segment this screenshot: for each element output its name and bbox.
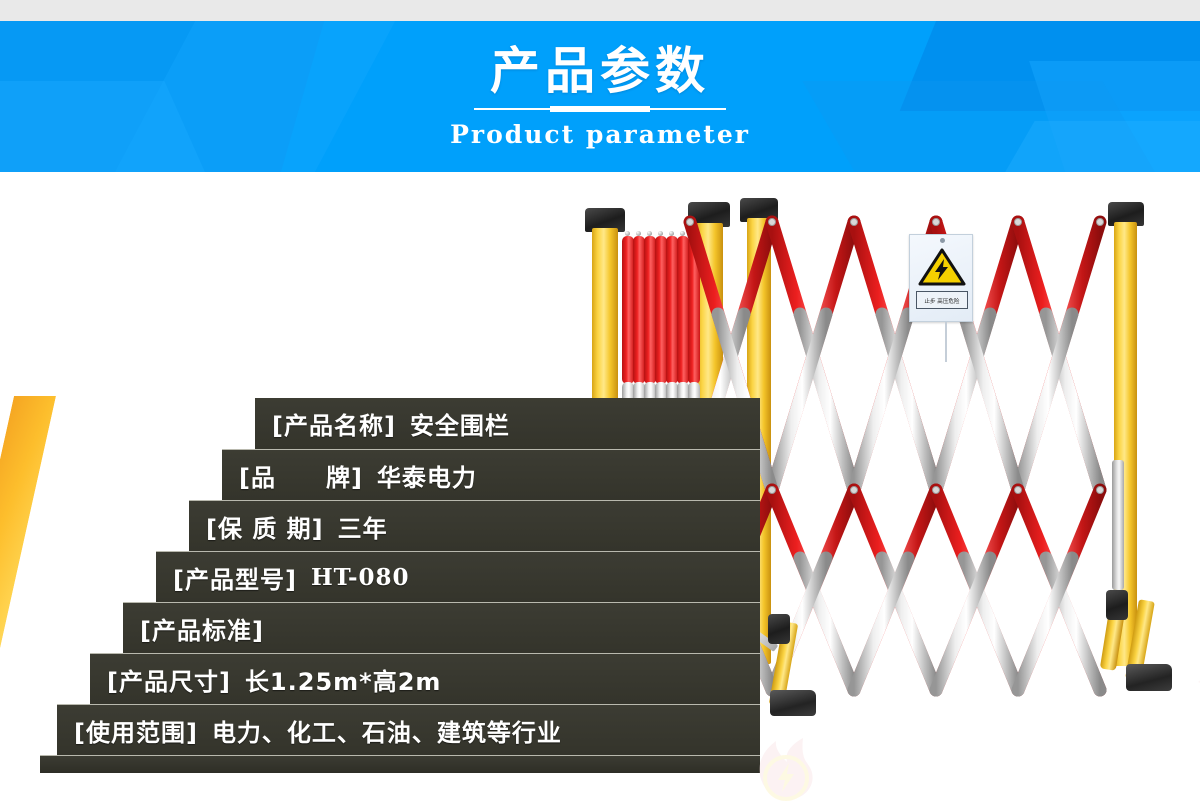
param-value: 华泰电力 [377, 458, 477, 493]
param-key: [产品尺寸] [107, 662, 231, 697]
param-key: [保 质 期] [206, 509, 324, 544]
sign-mount-hole [940, 238, 945, 243]
sign-text-box: 止步 高压危险 [916, 291, 968, 309]
title-underline [474, 105, 726, 113]
sign-stem [945, 322, 947, 362]
table-row: [产品型号] HT-080 [156, 551, 760, 602]
param-value: 长1.25m*高2m [245, 662, 441, 697]
param-value: HT-080 [311, 564, 410, 591]
header-banner: 产品参数 Product parameter [0, 21, 1200, 172]
table-row: [保 质 期] 三年 [189, 500, 760, 551]
sign-text: 止步 高压危险 [925, 296, 960, 304]
foot-pad-mid-2 [770, 690, 816, 716]
param-value: 电力、化工、石油、建筑等行业 [212, 713, 562, 748]
page-subtitle: Product parameter [450, 120, 750, 149]
param-value: 三年 [338, 509, 388, 544]
table-row: [使用范围] 电力、化工、石油、建筑等行业 [57, 704, 760, 755]
high-voltage-warning-sign: 止步 高压危险 [909, 234, 973, 322]
hinge-block-right [1106, 590, 1128, 620]
param-key: [产品型号] [173, 560, 297, 595]
table-row: [品 牌] 华泰电力 [222, 449, 760, 500]
param-key: [品 牌] [239, 458, 363, 493]
foot-pad-right [1126, 664, 1172, 691]
table-row: [产品尺寸] 长1.25m*高2m [90, 653, 760, 704]
param-key: [使用范围] [74, 713, 198, 748]
param-key: [产品名称] [272, 406, 396, 441]
table-row: [产品名称] 安全围栏 [255, 398, 760, 449]
page-top-strip [0, 0, 1200, 21]
lightning-bolt-icon [918, 247, 966, 287]
param-value: 安全围栏 [410, 406, 510, 441]
hinge-block-mid [768, 614, 790, 644]
page-title: 产品参数 [490, 46, 710, 96]
param-key: [产品标准] [140, 611, 264, 646]
table-row: [产品标准] [123, 602, 760, 653]
table-footer-strip [40, 755, 760, 773]
flame-logo-watermark [745, 732, 865, 804]
parameter-table: [产品名称] 安全围栏 [品 牌] 华泰电力 [保 质 期] 三年 [产品型号]… [0, 398, 760, 778]
